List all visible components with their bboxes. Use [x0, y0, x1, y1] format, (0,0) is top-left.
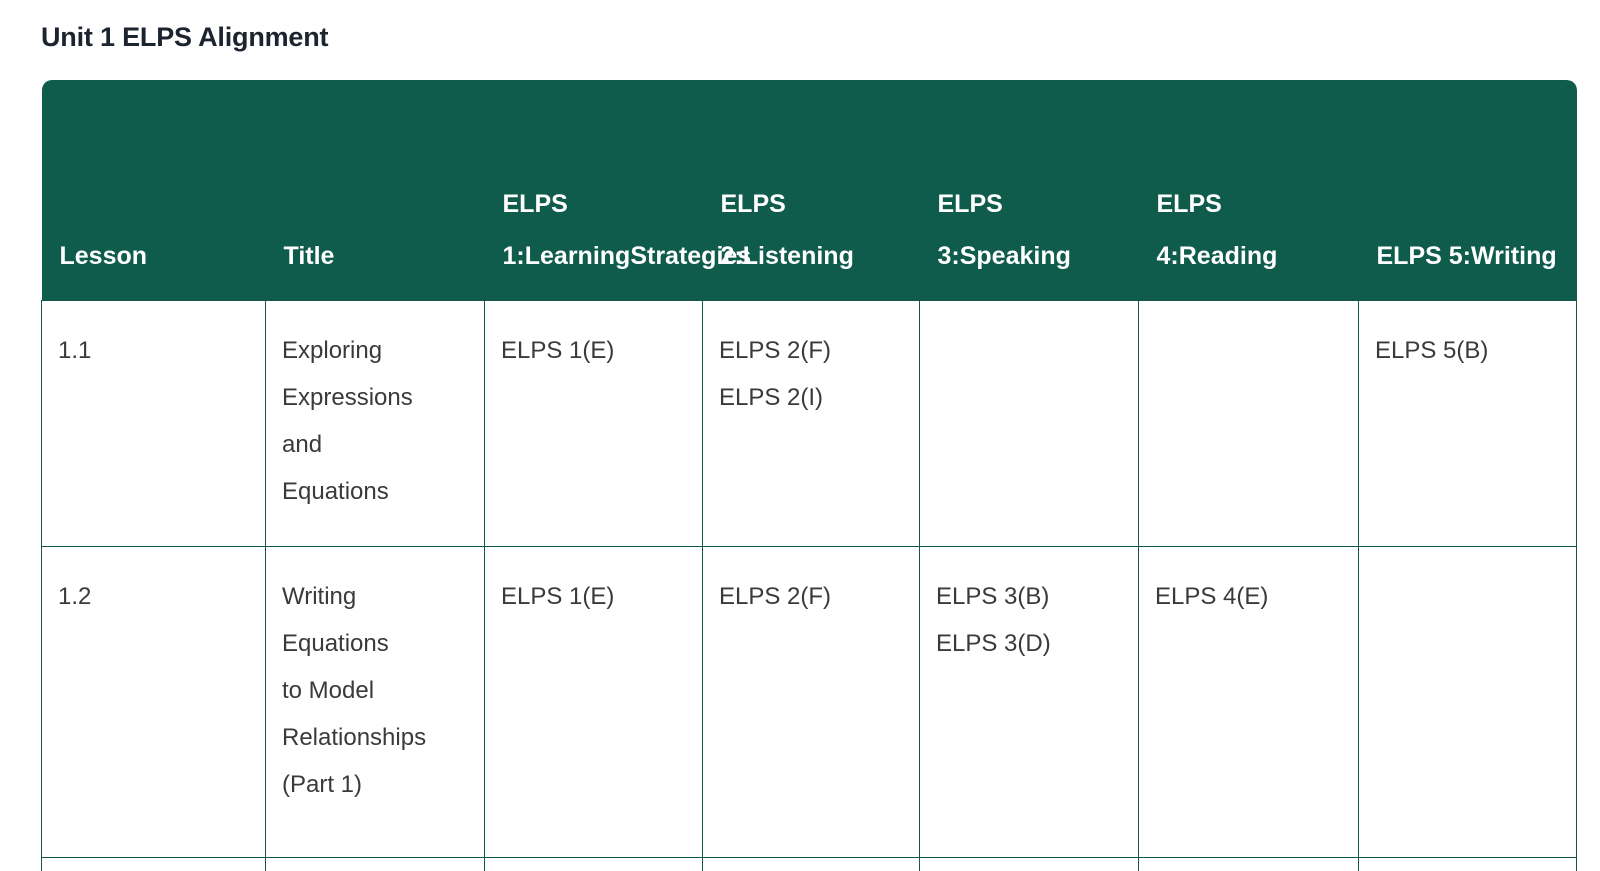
cell-line: ELPS 4(E)	[1155, 573, 1342, 620]
table-cell-elps1	[485, 857, 703, 871]
table-cell-elps2: ELPS 2(F)	[703, 546, 920, 857]
column-header-line: Reading	[1179, 242, 1278, 270]
table-cell-lesson	[42, 857, 266, 871]
table-cell-title: ExploringExpressionsandEquations	[266, 300, 485, 546]
column-header-title: Title	[266, 80, 485, 300]
cell-line: ELPS 2(F)	[719, 327, 903, 374]
column-header-line: Title	[284, 242, 335, 270]
table-cell-lesson: 1.1	[42, 300, 266, 546]
elps-alignment-table-container: Lesson Title ELPS 1:LearningStrategies E…	[41, 80, 1576, 871]
column-header-line: Listening	[743, 242, 854, 270]
table-cell-elps5: ELPS 5(B)	[1359, 300, 1577, 546]
column-header-line: Learning	[525, 242, 631, 270]
column-header-line: ELPS 5:	[1377, 242, 1471, 270]
table-header: Lesson Title ELPS 1:LearningStrategies E…	[42, 80, 1577, 300]
cell-line: 1.2	[58, 573, 249, 620]
page-title: Unit 1 ELPS Alignment	[41, 22, 328, 53]
column-header-line: Speaking	[960, 242, 1071, 270]
cell-line: Expressions	[282, 374, 468, 421]
cell-line: ELPS 2(F)	[719, 573, 903, 620]
table-cell-elps4: ELPS 4(E)	[1139, 546, 1359, 857]
cell-line: Relationships	[282, 714, 468, 761]
elps-alignment-table: Lesson Title ELPS 1:LearningStrategies E…	[41, 80, 1577, 871]
table-cell-title	[266, 857, 485, 871]
table-cell-elps1: ELPS 1(E)	[485, 300, 703, 546]
table-header-row: Lesson Title ELPS 1:LearningStrategies E…	[42, 80, 1577, 300]
elps-alignment-page: Unit 1 ELPS Alignment Lesson Title ELPS …	[0, 0, 1600, 871]
column-header-line: Lesson	[60, 242, 148, 270]
table-row: 1.1ExploringExpressionsandEquationsELPS …	[42, 300, 1577, 546]
table-cell-title: WritingEquationsto ModelRelationships(Pa…	[266, 546, 485, 857]
column-header-lesson: Lesson	[42, 80, 266, 300]
column-header-elps1: ELPS 1:LearningStrategies	[485, 80, 703, 300]
table-cell-elps5	[1359, 857, 1577, 871]
table-cell-elps1: ELPS 1(E)	[485, 546, 703, 857]
table-row: 1.2WritingEquationsto ModelRelationships…	[42, 546, 1577, 857]
cell-line: Writing	[282, 573, 468, 620]
cell-line: ELPS 1(E)	[501, 573, 686, 620]
table-cell-elps3	[920, 857, 1139, 871]
cell-line: (Part 1)	[282, 761, 468, 808]
table-cell-elps3: ELPS 3(B)ELPS 3(D)	[920, 546, 1139, 857]
table-cell-lesson: 1.2	[42, 546, 266, 857]
cell-line: ELPS 5(B)	[1375, 327, 1560, 374]
cell-line: ELPS 1(E)	[501, 327, 686, 374]
column-header-elps4: ELPS 4:Reading	[1139, 80, 1359, 300]
cell-line: ELPS 3(D)	[936, 620, 1122, 667]
table-cell-elps2: ELPS 2(F)ELPS 2(I)	[703, 300, 920, 546]
column-header-elps5: ELPS 5:Writing	[1359, 80, 1577, 300]
column-header-elps2: ELPS 2:Listening	[703, 80, 920, 300]
cell-line: to Model	[282, 667, 468, 714]
table-cell-elps4	[1139, 300, 1359, 546]
cell-line: Exploring	[282, 327, 468, 374]
cell-line: 1.1	[58, 327, 249, 374]
table-body: 1.1ExploringExpressionsandEquationsELPS …	[42, 300, 1577, 871]
table-cell-elps2	[703, 857, 920, 871]
cell-line: Equations	[282, 468, 468, 515]
cell-line: ELPS 2(I)	[719, 374, 903, 421]
table-row	[42, 857, 1577, 871]
table-cell-elps5	[1359, 546, 1577, 857]
cell-line: and	[282, 421, 468, 468]
column-header-line: Writing	[1471, 242, 1557, 270]
column-header-elps3: ELPS 3:Speaking	[920, 80, 1139, 300]
cell-line: Equations	[282, 620, 468, 667]
table-cell-elps3	[920, 300, 1139, 546]
cell-line: ELPS 3(B)	[936, 573, 1122, 620]
table-cell-elps4	[1139, 857, 1359, 871]
